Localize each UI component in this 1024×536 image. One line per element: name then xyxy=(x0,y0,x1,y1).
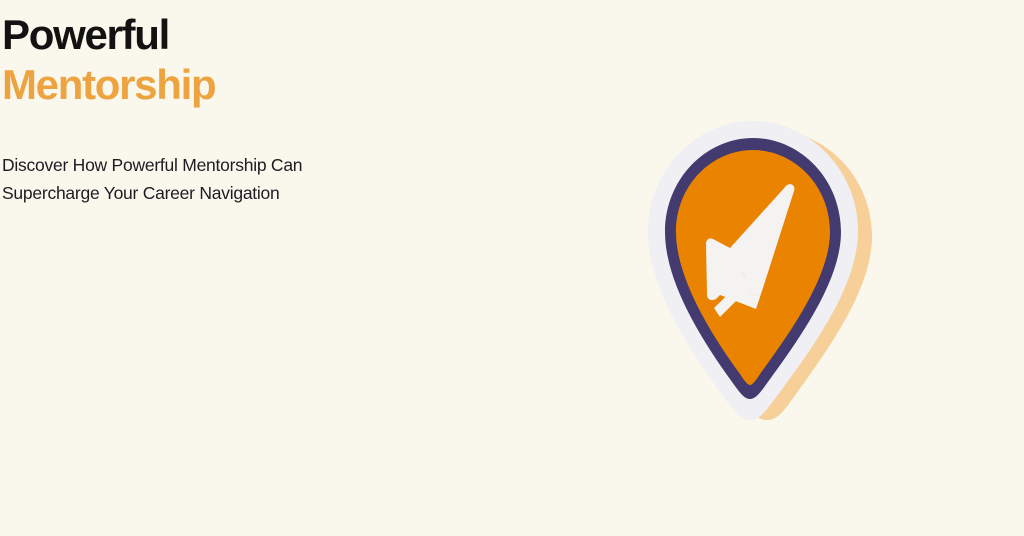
hero-banner: Powerful Mentorship Discover How Powerfu… xyxy=(0,0,1024,536)
hero-text-block: Powerful Mentorship Discover How Powerfu… xyxy=(2,0,562,208)
page-title-line-accent: Mentorship xyxy=(2,64,562,106)
map-pin-illustration xyxy=(610,105,900,435)
page-title-line-primary: Powerful xyxy=(2,14,562,56)
page-subtitle-line-2: Supercharge Your Career Navigation xyxy=(2,179,432,207)
map-pin-icon xyxy=(610,105,900,435)
page-subtitle-line-1: Discover How Powerful Mentorship Can xyxy=(2,151,432,179)
page-title: Powerful Mentorship xyxy=(2,14,562,106)
page-subtitle: Discover How Powerful Mentorship Can Sup… xyxy=(2,151,432,208)
